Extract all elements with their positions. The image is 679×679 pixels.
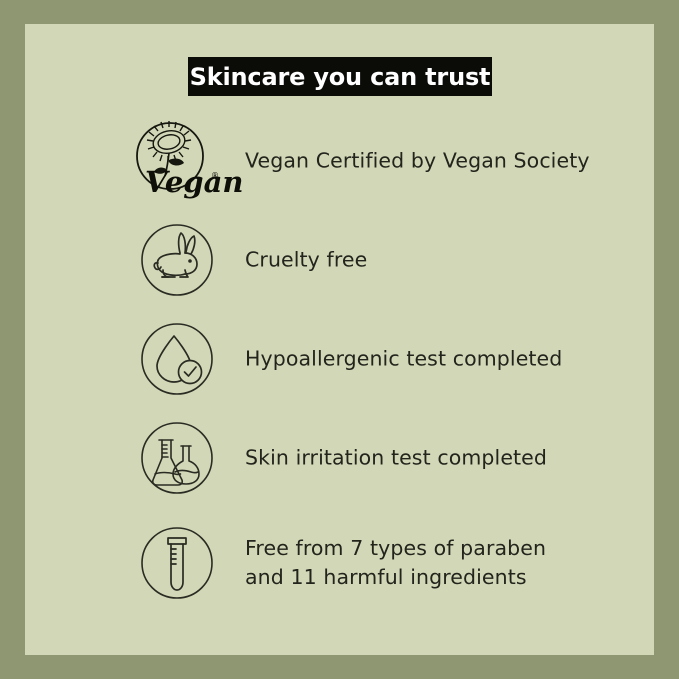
list-item-label: Cruelty free xyxy=(245,245,367,274)
title-banner: Skincare you can trust xyxy=(188,57,492,96)
list-item-label: Skin irritation test completed xyxy=(245,443,547,472)
droplet-check-icon xyxy=(135,317,219,401)
outer-border: Skincare you can trust xyxy=(0,0,679,679)
test-tube-icon xyxy=(135,521,219,605)
list-item: Free from 7 types of paraben and 11 harm… xyxy=(25,507,654,619)
page-title: Skincare you can trust xyxy=(190,65,491,89)
flasks-icon xyxy=(135,416,219,500)
list-item-label: Hypoallergenic test completed xyxy=(245,344,562,373)
list-item: Cruelty free xyxy=(25,210,654,309)
list-item: Skin irritation test completed xyxy=(25,408,654,507)
list-item-label: Vegan Certified by Vegan Society xyxy=(245,146,590,175)
list-item-label: Free from 7 types of paraben and 11 harm… xyxy=(245,534,546,592)
rabbit-icon xyxy=(135,218,219,302)
vegan-society-logo-icon: Vegan ® xyxy=(135,119,219,203)
registered-trademark-icon: ® xyxy=(211,171,219,180)
content-panel: Skincare you can trust xyxy=(25,24,654,655)
vegan-wordmark: Vegan xyxy=(145,165,243,199)
trust-claims-list: Vegan ® Vegan Certified by Vegan Society xyxy=(25,111,654,619)
list-item: Vegan ® Vegan Certified by Vegan Society xyxy=(25,111,654,210)
list-item: Hypoallergenic test completed xyxy=(25,309,654,408)
